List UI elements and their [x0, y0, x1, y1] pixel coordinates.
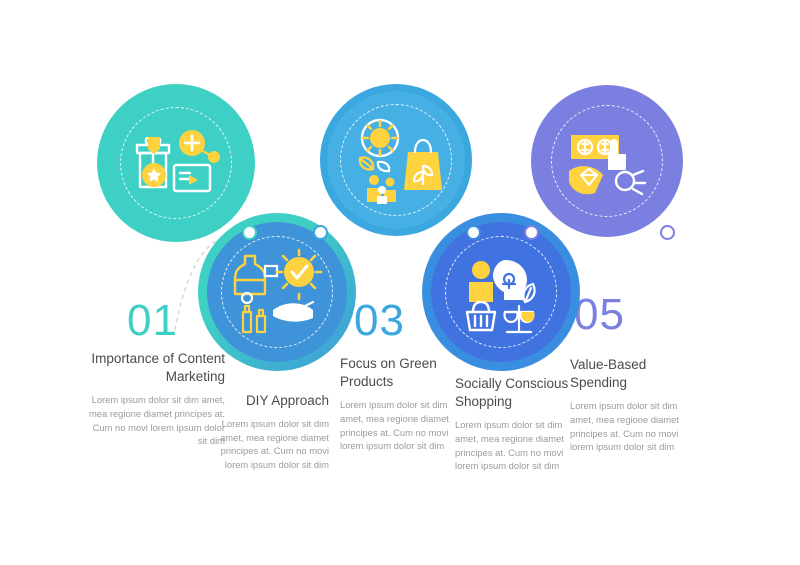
step-node-03[interactable]: 03: [422, 213, 580, 371]
icon-disc-03: [431, 222, 571, 362]
step-node-01[interactable]: 01: [198, 213, 356, 371]
step-body-05: Lorem ipsum dolor sit dim amet, mea regi…: [570, 399, 692, 454]
step-body-02: Lorem ipsum dolor sit dim amet, mea regi…: [203, 417, 329, 472]
icon-disc-05: [538, 92, 676, 230]
step-text-02: DIY Approach Lorem ipsum dolor sit dim a…: [203, 392, 329, 472]
step-title-04: Socially Conscious Shopping: [455, 375, 575, 411]
step-text-05: Value-Based Spending Lorem ipsum dolor s…: [570, 356, 692, 454]
step-text-03: Focus on Green Products Lorem ipsum dolo…: [340, 355, 460, 453]
step-number-05: 05: [574, 293, 625, 337]
step-title-03: Focus on Green Products: [340, 355, 460, 391]
connector-dot-a: [242, 225, 257, 240]
icon-disc-02: [106, 93, 246, 233]
step-text-04: Socially Conscious Shopping Lorem ipsum …: [455, 375, 575, 473]
step-number-02: 02: [255, 107, 306, 151]
step-node-02[interactable]: 02: [97, 84, 255, 242]
step-title-02: DIY Approach: [203, 392, 329, 410]
step-node-04[interactable]: 04: [320, 84, 472, 236]
icon-art-04: [340, 104, 452, 216]
step-body-03: Lorem ipsum dolor sit dim amet, mea regi…: [340, 398, 460, 453]
icon-disc-04: [327, 91, 465, 229]
step-number-01: 01: [127, 299, 178, 343]
connector-dot-e: [660, 225, 675, 240]
icon-disc-01: [207, 222, 347, 362]
icon-art-05: [551, 105, 663, 217]
infographic-canvas: 02: [0, 0, 800, 565]
icon-art-03: [445, 236, 557, 348]
connector-dot-d: [524, 225, 539, 240]
step-title-01: Importance of Content Marketing: [85, 350, 225, 386]
step-number-03: 03: [354, 299, 405, 343]
step-title-05: Value-Based Spending: [570, 356, 692, 392]
connector-dot-c: [466, 225, 481, 240]
icon-art-01: [221, 236, 333, 348]
connector-dot-b: [313, 225, 328, 240]
step-number-04: 04: [476, 106, 527, 150]
icon-art-02: [120, 107, 232, 219]
step-node-05[interactable]: 05: [531, 85, 683, 237]
step-body-04: Lorem ipsum dolor sit dim amet, mea regi…: [455, 418, 575, 473]
